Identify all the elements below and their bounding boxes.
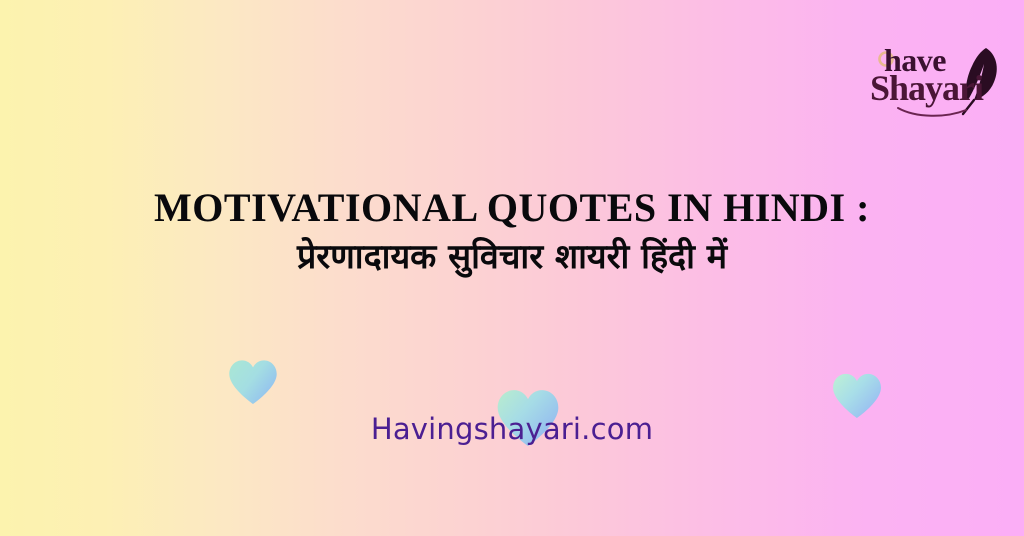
page-title: MOTIVATIONAL QUOTES IN HINDI : प्रेरणादा…: [0, 186, 1024, 279]
logo-accent-circle: [880, 53, 893, 66]
banner-canvas: have Shayari MOTIVATIONAL QUOTES IN HIND…: [0, 0, 1024, 536]
site-url-label[interactable]: Havingshayari.com: [0, 412, 1024, 446]
logo-swash: [898, 108, 966, 116]
feather-quill-icon: [963, 48, 997, 114]
title-line-english: MOTIVATIONAL QUOTES IN HINDI :: [0, 186, 1024, 231]
title-line-hindi: प्रेरणादायक सुविचार शायरी हिंदी में: [0, 235, 1024, 279]
have-shayari-logo[interactable]: have Shayari: [868, 42, 1006, 126]
heart-left: [229, 360, 276, 404]
